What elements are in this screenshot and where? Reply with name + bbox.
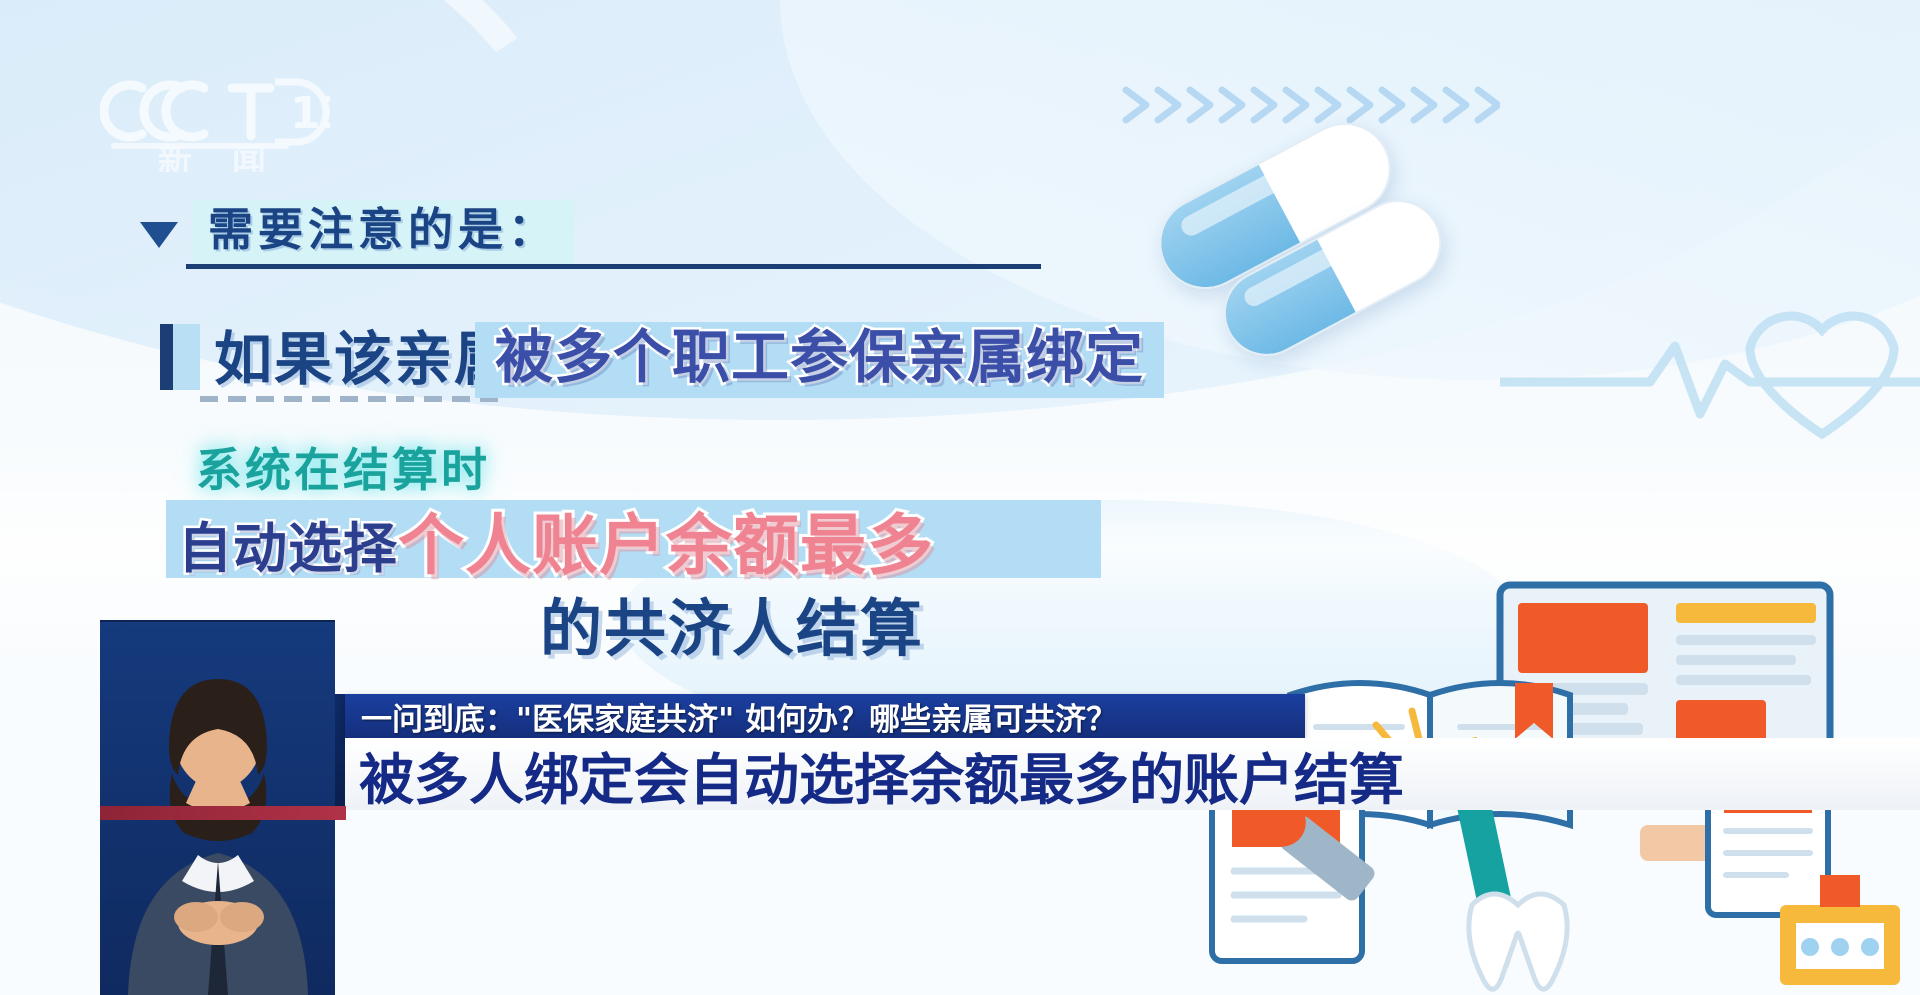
- slide-line1-highlight-box: 被多个职工参保亲属绑定: [475, 322, 1164, 398]
- slide-heading-row: 需要注意的是：: [140, 200, 574, 264]
- triangle-down-icon: [140, 222, 178, 248]
- slide-line4: 的共济人结算: [540, 578, 924, 668]
- broadcast-stage: 13 新 闻: [0, 0, 1920, 995]
- slide-line1-highlight: 被多个职工参保亲属绑定: [495, 323, 1144, 391]
- lower-third-subtitle-bar: 一问到底："医保家庭共济" 如何办？哪些亲属可共济？: [345, 694, 1305, 738]
- lower-third-red-strip: [100, 806, 346, 820]
- slide-heading: 需要注意的是：: [192, 200, 574, 264]
- slide-line3-pink: 个人账户余额最多: [398, 492, 934, 588]
- slide-line1-plain: 如果该亲属: [214, 330, 514, 390]
- anchor-figure: [100, 665, 335, 995]
- line1-dashed-underline: [200, 396, 500, 402]
- heading-divider: [186, 264, 1041, 269]
- lower-third-headline: 被多人绑定会自动选择余额最多的账户结算: [345, 735, 1404, 815]
- accent-bar-navy: [160, 324, 173, 390]
- lower-third-headline-bar: 被多人绑定会自动选择余额最多的账户结算: [345, 738, 1920, 810]
- slide-line2-teal: 系统在结算时: [196, 434, 490, 500]
- accent-bar-lightblue: [173, 324, 200, 390]
- slide-line1-row: 如果该亲属: [160, 324, 514, 390]
- slide-line3-navy: 自动选择: [178, 504, 398, 583]
- lower-third-subtitle: 一问到底："医保家庭共济" 如何办？哪些亲属可共济？: [345, 694, 1117, 739]
